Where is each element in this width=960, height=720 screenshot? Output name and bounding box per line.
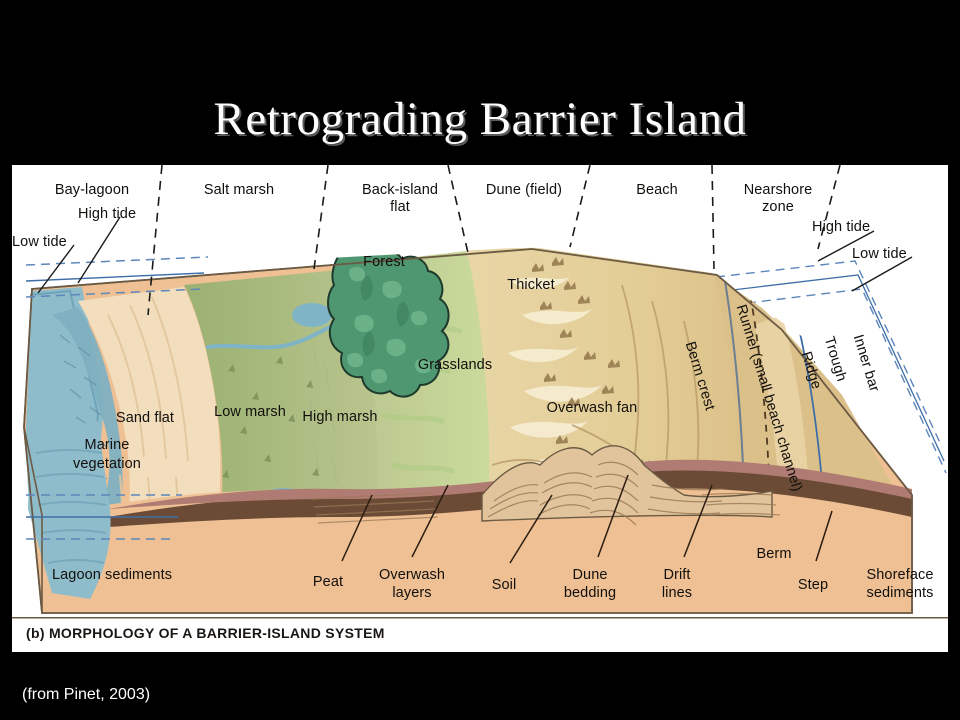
source-attribution: (from Pinet, 2003): [22, 686, 150, 704]
surface-label-thicket: Thicket: [507, 278, 554, 293]
zone-label-back-island: Back-island: [362, 183, 438, 198]
zone-label-salt-marsh: Salt marsh: [204, 183, 274, 198]
subsurface-label-overwash: Overwash: [379, 568, 445, 583]
tide-label-low-tide-left: Low tide: [12, 235, 67, 250]
subsurface-label-drift: Drift: [663, 568, 690, 583]
tide-label-high-tide-left: High tide: [78, 207, 136, 222]
surface-label-grasslands: Grasslands: [418, 358, 492, 373]
slide-title: Retrograding Barrier Island: [0, 96, 960, 143]
subsurface-label-shoreface-sediments: sediments: [867, 586, 934, 601]
zone-label-nearshore: Nearshore: [744, 183, 813, 198]
subsurface-label-peat: Peat: [313, 575, 343, 590]
subsurface-label-step: Step: [798, 578, 828, 593]
surface-label-overwash-fan: Overwash fan: [547, 401, 638, 416]
zone-label-beach: Beach: [636, 183, 678, 198]
figure-caption: (b) MORPHOLOGY OF A BARRIER-ISLAND SYSTE…: [26, 625, 385, 641]
tide-label-low-tide-right: Low tide: [852, 247, 907, 262]
surface-label-forest: Forest: [363, 255, 405, 270]
subsurface-label-shoreface: Shoreface: [867, 568, 934, 583]
surface-label-low-marsh: Low marsh: [214, 405, 286, 420]
figure-panel: Bay-lagoon Salt marsh Back-island flat D…: [12, 165, 948, 652]
surface-label-berm: Berm: [756, 547, 791, 562]
slide-root: Retrograding Barrier Island: [0, 0, 960, 720]
tide-label-high-tide-right: High tide: [812, 220, 870, 235]
subsurface-label-lagoon-sediments: Lagoon sediments: [52, 568, 172, 583]
surface-label-marine-vegetation: vegetation: [73, 457, 141, 472]
subsurface-label-drift-lines: lines: [662, 586, 692, 601]
zone-label-bay-lagoon: Bay-lagoon: [55, 183, 129, 198]
surface-label-high-marsh: High marsh: [302, 410, 377, 425]
subsurface-label-soil: Soil: [492, 578, 517, 593]
surface-label-sand-flat: Sand flat: [116, 411, 174, 426]
subsurface-label-dune-bedding: bedding: [564, 586, 616, 601]
subsurface-label-dune: Dune: [572, 568, 607, 583]
surface-label-marine: Marine: [85, 438, 130, 453]
zone-label-nearshore-zone: zone: [762, 200, 794, 215]
zone-label-dune-field: Dune (field): [486, 183, 562, 198]
subsurface-label-overwash-layers: layers: [392, 586, 431, 601]
zone-label-back-island-flat: flat: [390, 200, 410, 215]
